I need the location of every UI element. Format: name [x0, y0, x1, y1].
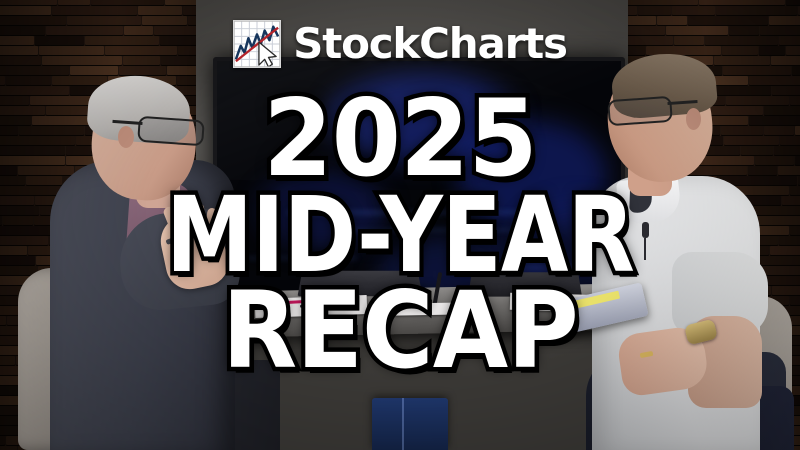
- wood-plank: [770, 246, 800, 255]
- wood-plank: [759, 46, 785, 55]
- paper: [395, 302, 465, 315]
- blue-object: [372, 398, 448, 450]
- wood-plank: [124, 26, 153, 35]
- wood-plank: [188, 16, 196, 25]
- wood-plank: [774, 146, 800, 155]
- wood-plank: [0, 86, 69, 95]
- wood-plank: [790, 96, 800, 105]
- wood-plank: [142, 16, 187, 25]
- wood-plank: [628, 36, 673, 45]
- wood-plank: [723, 66, 791, 75]
- wood-plank: [792, 386, 800, 395]
- wood-plank: [699, 0, 785, 5]
- wood-plank: [688, 16, 768, 25]
- wood-plank: [714, 56, 770, 65]
- wood-plank: [721, 126, 763, 135]
- wood-plank: [768, 276, 800, 285]
- wood-plank: [0, 316, 6, 325]
- wood-plank: [790, 226, 800, 235]
- wood-plank: [729, 26, 759, 35]
- wood-plank: [769, 16, 800, 25]
- wood-plank: [764, 106, 800, 115]
- wood-plank: [161, 56, 196, 65]
- wood-plank: [177, 76, 196, 85]
- left-person-glasses: [137, 116, 205, 147]
- wood-plank: [105, 46, 177, 55]
- wood-plank: [160, 36, 196, 45]
- wood-plank: [183, 6, 196, 15]
- wood-plank: [0, 216, 2, 225]
- wood-plank: [167, 66, 196, 75]
- wood-plank: [178, 46, 196, 55]
- wood-plank: [795, 156, 800, 165]
- wood-plank: [0, 36, 34, 45]
- wood-plank: [39, 46, 104, 55]
- wood-plank: [760, 26, 800, 35]
- right-person-ear: [686, 108, 701, 130]
- wood-plank: [741, 146, 773, 155]
- wood-plank: [138, 6, 182, 15]
- wood-plank: [18, 166, 74, 175]
- wood-plank: [0, 246, 27, 255]
- wood-plank: [782, 196, 800, 205]
- wood-plank: [0, 56, 41, 65]
- wood-plank: [792, 66, 800, 75]
- tv-streak: [247, 257, 357, 259]
- wood-plank: [0, 196, 34, 205]
- wood-plank: [716, 6, 797, 15]
- wood-plank: [0, 186, 63, 195]
- wood-plank: [0, 156, 65, 165]
- wood-plank: [91, 0, 164, 5]
- wood-plank: [666, 26, 728, 35]
- wood-plank: [0, 146, 65, 155]
- wood-plank: [3, 216, 33, 225]
- wood-plank: [749, 116, 800, 125]
- tv-streak: [287, 211, 547, 214]
- wood-plank: [628, 46, 645, 55]
- wood-plank: [779, 236, 800, 245]
- wood-plank: [154, 26, 196, 35]
- wood-plank: [628, 26, 665, 35]
- wood-plank: [0, 26, 45, 35]
- wood-plank: [790, 296, 800, 305]
- wood-plank: [772, 86, 800, 95]
- wood-plank: [119, 66, 166, 75]
- wood-plank: [0, 16, 66, 25]
- wood-plank: [19, 126, 84, 135]
- wood-plank: [638, 6, 671, 15]
- wood-plank: [0, 256, 35, 265]
- wood-plank: [786, 0, 800, 5]
- wood-plank: [0, 436, 5, 445]
- wood-plank: [0, 0, 57, 5]
- wood-plank: [795, 126, 800, 135]
- wood-plank: [0, 46, 38, 55]
- wood-plank: [0, 96, 29, 105]
- wood-plank: [35, 36, 84, 45]
- right-person-glasses: [607, 96, 673, 126]
- wood-plank: [786, 46, 800, 55]
- wood-plank: [0, 166, 17, 175]
- wood-plank: [674, 36, 704, 45]
- wood-plank: [0, 226, 54, 235]
- wood-plank: [52, 76, 107, 85]
- wood-plank: [780, 136, 800, 145]
- wood-plank: [722, 46, 758, 55]
- wood-plank: [165, 0, 196, 5]
- wood-plank: [755, 156, 794, 165]
- wood-plank: [724, 136, 779, 145]
- laptop: [298, 271, 423, 296]
- wood-plank: [628, 16, 656, 25]
- wood-plank: [790, 186, 800, 195]
- wood-plank: [0, 6, 51, 15]
- wood-plank: [0, 116, 31, 125]
- wood-plank: [705, 36, 778, 45]
- video-thumbnail: StockCharts 2025 MID-YEAR RECAP: [0, 0, 800, 450]
- left-person-ear: [118, 126, 134, 148]
- wood-plank: [779, 36, 800, 45]
- wood-plank: [778, 166, 800, 175]
- tv-streak: [467, 266, 607, 268]
- wood-plank: [0, 106, 45, 115]
- wood-plank: [0, 176, 25, 185]
- tv-streak: [337, 229, 517, 231]
- wood-plank: [0, 126, 18, 135]
- wood-plank: [0, 66, 69, 75]
- wood-plank: [26, 176, 62, 185]
- wood-plank: [30, 96, 96, 105]
- wood-plank: [6, 76, 51, 85]
- wood-plank: [52, 6, 137, 15]
- wood-plank: [0, 356, 15, 365]
- wood-plank: [0, 236, 48, 245]
- wood-plank: [42, 56, 122, 65]
- wood-plank: [749, 76, 800, 85]
- wood-plank: [0, 446, 17, 450]
- wood-plank: [771, 56, 800, 65]
- wood-plank: [772, 286, 800, 295]
- wood-plank: [764, 126, 794, 135]
- wood-plank: [70, 66, 118, 75]
- wood-plank: [0, 206, 39, 215]
- lapel-microphone: [642, 222, 649, 238]
- wood-plank: [628, 6, 637, 15]
- wood-plank: [123, 56, 160, 65]
- wood-plank: [85, 36, 159, 45]
- wood-plank: [657, 16, 687, 25]
- wood-plank: [46, 26, 123, 35]
- wood-plank: [628, 0, 698, 5]
- wood-plank: [726, 96, 789, 105]
- wood-plank: [748, 166, 777, 175]
- wood-plank: [0, 136, 75, 145]
- wood-plank: [67, 16, 141, 25]
- wood-plank: [672, 6, 715, 15]
- wood-plank: [0, 76, 5, 85]
- wood-plank: [58, 0, 90, 5]
- tv-reflection: [217, 61, 621, 180]
